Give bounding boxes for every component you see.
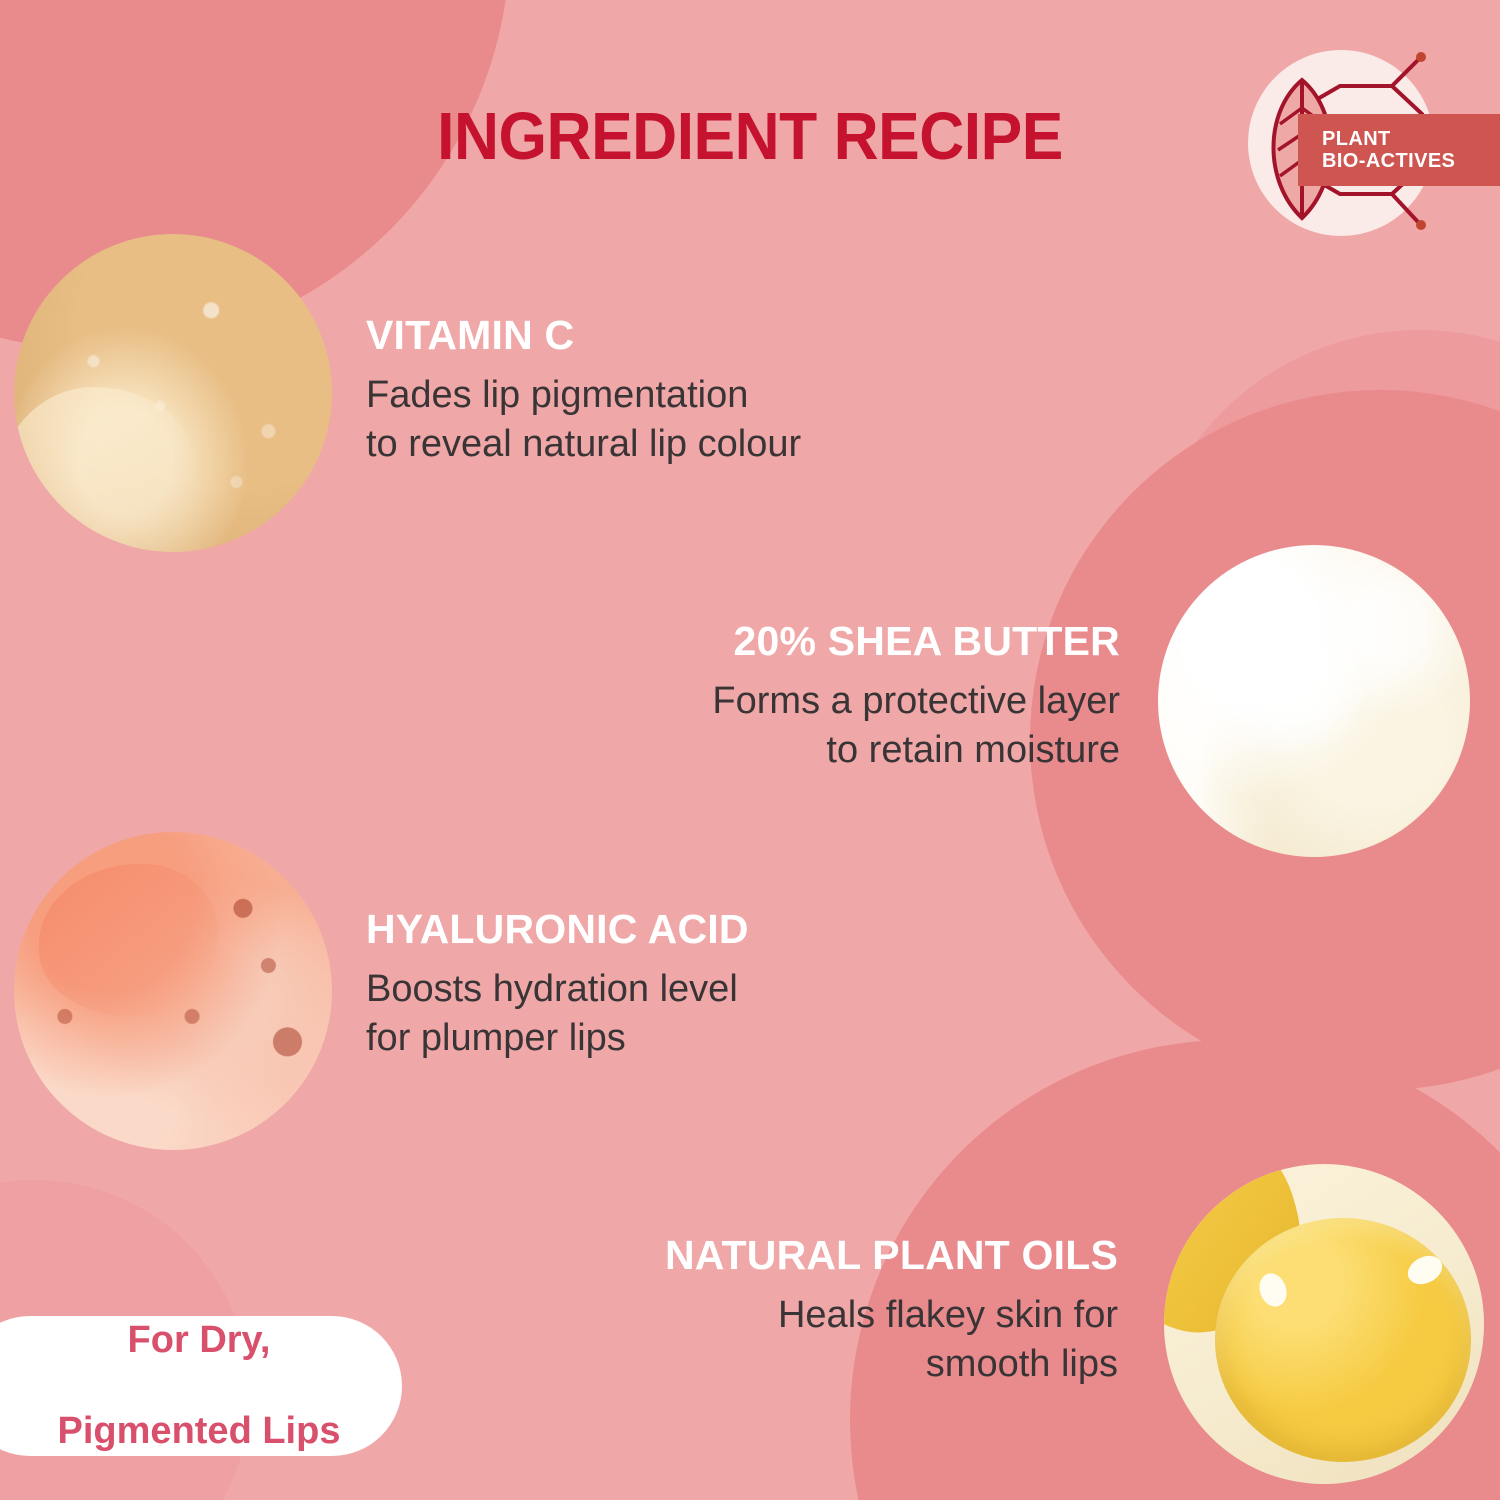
plant-bio-actives-badge: PLANT BIO-ACTIVES	[1240, 42, 1500, 242]
golden-oil-droplet-swatch	[1164, 1164, 1484, 1484]
ingredient-description-line2: to retain moisture	[826, 729, 1120, 771]
ingredient-description-line1: Heals flakey skin for	[778, 1294, 1118, 1336]
ingredient-description: Boosts hydration level for plumper lips	[366, 965, 1006, 1062]
badge-label-line1: PLANT	[1322, 128, 1500, 150]
badge-label-line2: BIO-ACTIVES	[1322, 150, 1500, 172]
ingredient-description-line1: Boosts hydration level	[366, 968, 738, 1010]
page-title: INGREDIENT RECIPE	[53, 98, 1448, 175]
ingredient-description-line1: Forms a protective layer	[712, 680, 1120, 722]
oil-droplet	[1215, 1218, 1471, 1461]
ingredient-description-line2: smooth lips	[926, 1343, 1118, 1385]
shea-butter-cream-swatch	[1158, 545, 1470, 857]
ingredient-heading: VITAMIN C	[366, 312, 1006, 359]
pill-label-line1: For Dry,	[58, 1318, 341, 1364]
pill-label-line2: Pigmented Lips	[58, 1409, 341, 1455]
ingredient-heading: HYALURONIC ACID	[366, 906, 1006, 953]
ingredient-description-line1: Fades lip pigmentation	[366, 374, 748, 416]
golden-serum-swatch	[14, 234, 332, 552]
ingredient-heading: NATURAL PLANT OILS	[518, 1232, 1118, 1279]
ingredient-description-line2: for plumper lips	[366, 1017, 626, 1059]
ingredient-natural-plant-oils: NATURAL PLANT OILS Heals flakey skin for…	[518, 1232, 1118, 1388]
ingredient-description-line2: to reveal natural lip colour	[366, 423, 801, 465]
ingredient-vitamin-c: VITAMIN C Fades lip pigmentation to reve…	[366, 312, 1006, 468]
ingredient-hyaluronic-acid: HYALURONIC ACID Boosts hydration level f…	[366, 906, 1006, 1062]
badge-banner: PLANT BIO-ACTIVES	[1298, 114, 1500, 186]
ingredient-description: Forms a protective layer to retain moist…	[520, 677, 1120, 774]
ingredient-shea-butter: 20% SHEA BUTTER Forms a protective layer…	[520, 618, 1120, 774]
ingredient-heading: 20% SHEA BUTTER	[520, 618, 1120, 665]
ingredient-description: Fades lip pigmentation to reveal natural…	[366, 371, 1006, 468]
pill-label: For Dry, Pigmented Lips	[58, 1318, 341, 1455]
pink-gel-swatch	[14, 832, 332, 1150]
for-dry-pigmented-lips-pill: For Dry, Pigmented Lips	[0, 1316, 402, 1456]
ingredient-description: Heals flakey skin for smooth lips	[518, 1291, 1118, 1388]
